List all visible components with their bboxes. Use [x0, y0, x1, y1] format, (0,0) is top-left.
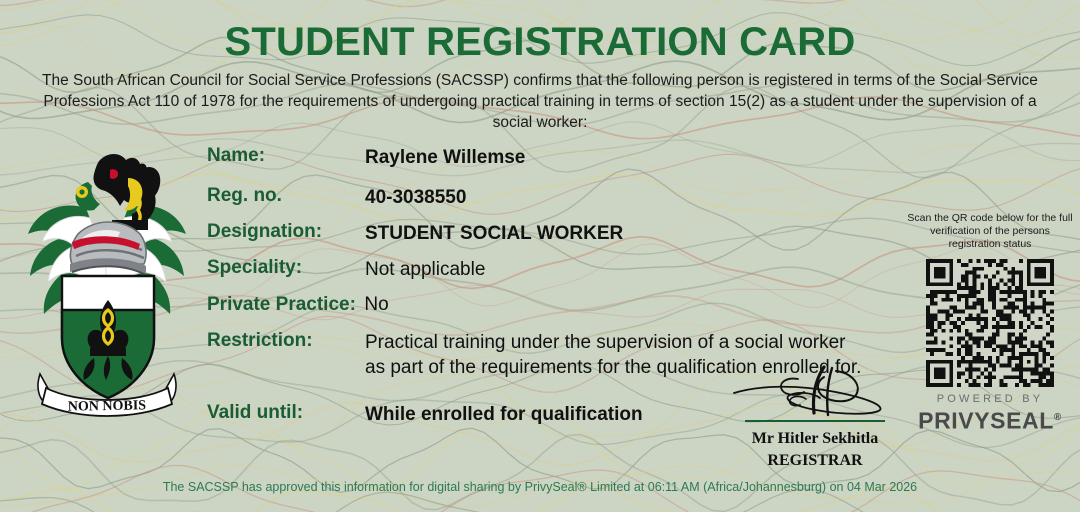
- signature-block: Mr Hitler Sekhitla REGISTRAR: [700, 365, 930, 472]
- qr-verification-panel: Scan the QR code below for the full veri…: [905, 212, 1075, 434]
- detail-row-speciality: Speciality: Not applicable: [207, 257, 907, 292]
- handwritten-signature: [720, 365, 910, 420]
- detail-label: Restriction:: [207, 330, 313, 352]
- registered-mark-icon: ®: [1054, 412, 1062, 423]
- detail-row-reg-no: Reg. no. 40-3038550: [207, 185, 907, 221]
- detail-label: Private Practice:: [207, 294, 356, 316]
- approval-footer: The SACSSP has approved this information…: [0, 480, 1080, 494]
- signature-line: [745, 420, 885, 422]
- detail-value: No: [364, 292, 388, 317]
- detail-value: STUDENT SOCIAL WORKER: [365, 221, 623, 246]
- detail-label: Valid until:: [207, 402, 303, 424]
- detail-label: Designation:: [207, 221, 322, 243]
- detail-value: While enrolled for qualification: [365, 402, 643, 427]
- shield: [62, 276, 154, 398]
- registrar-name: Mr Hitler Sekhitla: [700, 428, 930, 450]
- privyseal-wordmark: PRIVYSEAL: [918, 408, 1054, 434]
- sacssp-coat-of-arms-emblem: NON NOBIS: [16, 142, 198, 424]
- motto-text: NON NOBIS: [68, 398, 147, 414]
- detail-row-name: Name: Raylene Willemse: [207, 145, 907, 185]
- registrar-role: REGISTRAR: [700, 450, 930, 472]
- detail-value: Raylene Willemse: [365, 145, 525, 170]
- student-registration-card: STUDENT REGISTRATION CARD The South Afri…: [0, 0, 1080, 512]
- detail-label: Reg. no.: [207, 185, 282, 207]
- qr-caption: Scan the QR code below for the full veri…: [905, 212, 1075, 251]
- page-title: STUDENT REGISTRATION CARD: [0, 20, 1080, 65]
- detail-value: Not applicable: [365, 257, 485, 282]
- qr-code[interactable]: [926, 259, 1054, 387]
- detail-label: Speciality:: [207, 257, 302, 279]
- privyseal-brand: PRIVYSEAL®: [905, 405, 1075, 434]
- powered-by-label: POWERED BY: [905, 393, 1075, 405]
- detail-label: Name:: [207, 145, 265, 167]
- detail-row-private-practice: Private Practice: No: [207, 292, 907, 330]
- intro-paragraph: The South African Council for Social Ser…: [30, 70, 1050, 133]
- detail-value: 40-3038550: [365, 185, 466, 210]
- detail-row-designation: Designation: STUDENT SOCIAL WORKER: [207, 221, 907, 257]
